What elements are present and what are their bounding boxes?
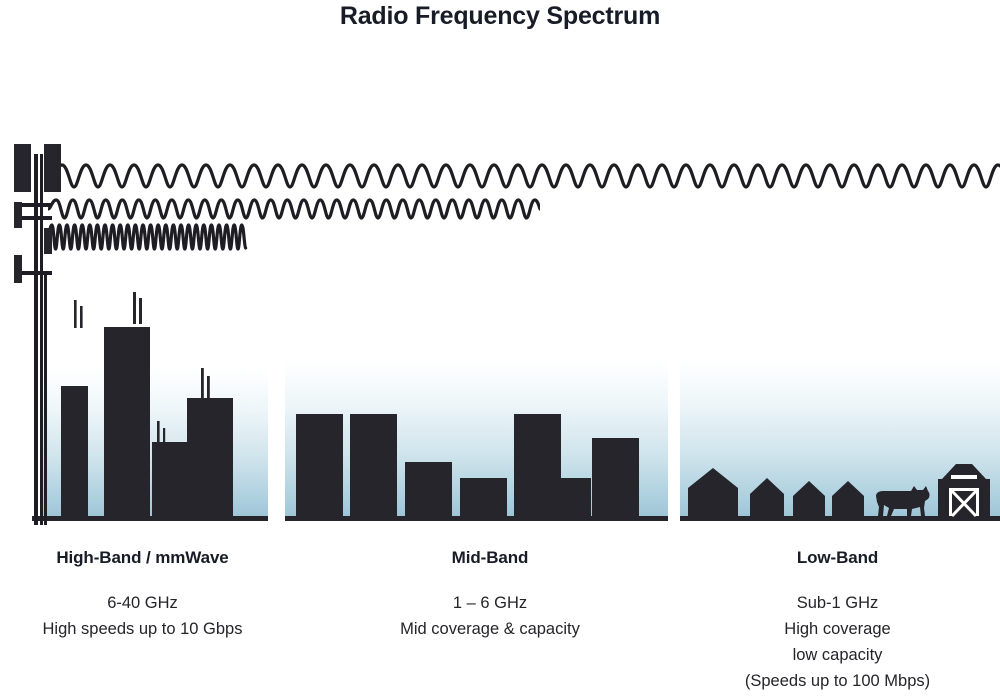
caption-mid-band: Mid-Band 1 – 6 GHz Mid coverage & capaci… xyxy=(330,548,650,642)
caption-high-band: High-Band / mmWave 6-40 GHz High speeds … xyxy=(0,548,285,642)
band-heading-mid: Mid-Band xyxy=(330,548,650,568)
band-line-high-1: High speeds up to 10 Gbps xyxy=(0,616,285,642)
band-line-mid-0: 1 – 6 GHz xyxy=(330,590,650,616)
antenna-panel-top-right xyxy=(44,144,61,192)
tower-mast-left xyxy=(34,154,38,525)
band-line-low-3: (Speeds up to 100 Mbps) xyxy=(675,668,1000,694)
antenna-panel-middle-left xyxy=(14,202,22,228)
mid-frequency-wave xyxy=(48,196,540,222)
low-frequency-wave xyxy=(50,158,1000,194)
city-skyline-silhouette xyxy=(60,290,270,520)
band-heading-low: Low-Band xyxy=(675,548,1000,568)
tower-crossbar-upper xyxy=(22,203,52,207)
antenna-panel-lower-left xyxy=(14,255,22,283)
caption-low-band: Low-Band Sub-1 GHz High coverage low cap… xyxy=(675,548,1000,694)
page-title: Radio Frequency Spectrum xyxy=(0,2,1000,31)
band-line-low-1: High coverage xyxy=(675,616,1000,642)
tower-crossbar-upper-2 xyxy=(22,216,52,220)
band-heading-high: High-Band / mmWave xyxy=(0,548,285,568)
band-line-low-2: low capacity xyxy=(675,642,1000,668)
rural-farm-silhouette xyxy=(680,450,1000,520)
band-line-low-0: Sub-1 GHz xyxy=(675,590,1000,616)
suburban-buildings-silhouette xyxy=(285,410,668,520)
tower-crossbar-lower xyxy=(22,271,52,275)
antenna-panel-top-left xyxy=(14,144,31,192)
band-line-high-0: 6-40 GHz xyxy=(0,590,285,616)
antenna-panel-middle-right xyxy=(44,228,52,254)
tower-stub-lower xyxy=(44,275,47,525)
band-line-mid-1: Mid coverage & capacity xyxy=(330,616,650,642)
infographic-canvas: Radio Frequency Spectrum xyxy=(0,0,1000,700)
tower-mast-right xyxy=(40,154,43,525)
